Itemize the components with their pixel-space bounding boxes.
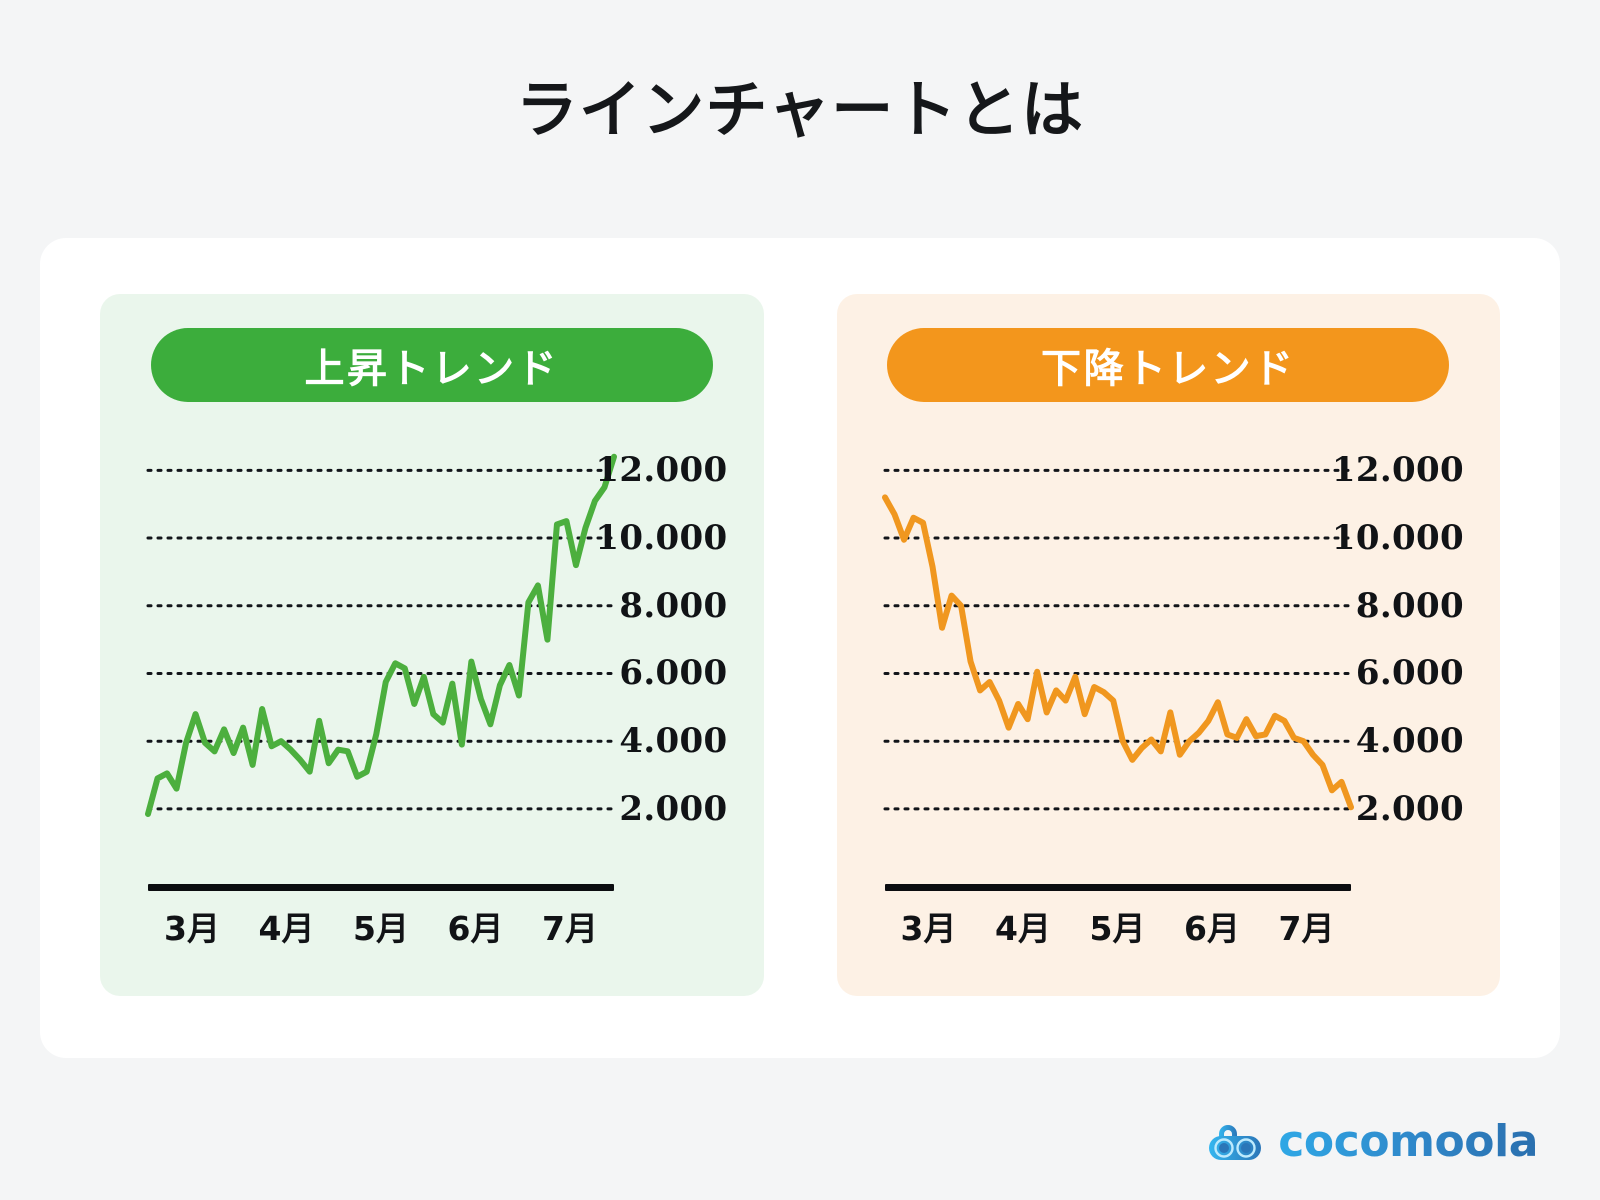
x-tick-label: 4月 xyxy=(995,902,1051,950)
x-tick-label: 3月 xyxy=(164,902,220,950)
y-tick-label: 2.000 xyxy=(619,789,727,829)
y-tick-label: 8.000 xyxy=(1356,586,1464,626)
logo-wordmark: cocomoola xyxy=(1278,1120,1538,1164)
uptrend-badge: 上昇トレンド xyxy=(151,328,713,402)
uptrend-plot xyxy=(148,450,614,836)
charts-row: 上昇トレンド 2.0004.0006.0008.00010.00012.000 … xyxy=(100,294,1500,996)
y-tick-label: 6.000 xyxy=(619,653,727,693)
slide-root: ラインチャートとは 上昇トレンド 2.0004.0006.0008.00010.… xyxy=(0,0,1600,1200)
x-tick-label: 5月 xyxy=(1090,902,1146,950)
y-tick-label: 6.000 xyxy=(1356,653,1464,693)
downtrend-y-axis-labels: 2.0004.0006.0008.00010.00012.000 xyxy=(1326,450,1466,836)
downtrend-badge: 下降トレンド xyxy=(887,328,1449,402)
uptrend-svg xyxy=(148,450,614,836)
x-tick-label: 3月 xyxy=(901,902,957,950)
cocomoola-logo: cocomoola xyxy=(1208,1120,1538,1164)
downtrend-plot xyxy=(885,450,1351,836)
downtrend-svg xyxy=(885,450,1351,836)
content-panel: 上昇トレンド 2.0004.0006.0008.00010.00012.000 … xyxy=(40,238,1560,1058)
x-tick-label: 5月 xyxy=(353,902,409,950)
uptrend-line xyxy=(148,457,614,814)
downtrend-chart-area: 2.0004.0006.0008.00010.00012.000 3月4月5月6… xyxy=(871,450,1467,920)
uptrend-card: 上昇トレンド 2.0004.0006.0008.00010.00012.000 … xyxy=(100,294,764,996)
y-tick-label: 10.000 xyxy=(595,518,727,558)
x-tick-label: 6月 xyxy=(1184,902,1240,950)
y-tick-label: 4.000 xyxy=(1356,721,1464,761)
downtrend-x-axis-line xyxy=(885,884,1351,891)
y-tick-label: 2.000 xyxy=(1356,789,1464,829)
x-tick-label: 6月 xyxy=(448,902,504,950)
x-tick-label: 7月 xyxy=(542,902,598,950)
y-tick-label: 12.000 xyxy=(1332,450,1464,490)
x-tick-label: 4月 xyxy=(259,902,315,950)
page-title: ラインチャートとは xyxy=(516,76,1085,144)
y-tick-label: 10.000 xyxy=(1332,518,1464,558)
downtrend-line xyxy=(885,497,1351,807)
downtrend-card: 下降トレンド 2.0004.0006.0008.00010.00012.000 … xyxy=(837,294,1501,996)
y-tick-label: 12.000 xyxy=(595,450,727,490)
uptrend-y-axis-labels: 2.0004.0006.0008.00010.00012.000 xyxy=(590,450,730,836)
uptrend-gridlines xyxy=(148,470,614,809)
downtrend-gridlines xyxy=(885,470,1351,809)
y-tick-label: 4.000 xyxy=(619,721,727,761)
uptrend-x-axis-labels: 3月4月5月6月7月 xyxy=(148,902,614,950)
downtrend-x-axis-labels: 3月4月5月6月7月 xyxy=(885,902,1351,950)
cocomoola-robot-icon xyxy=(1208,1122,1262,1162)
x-tick-label: 7月 xyxy=(1279,902,1335,950)
uptrend-chart-area: 2.0004.0006.0008.00010.00012.000 3月4月5月6… xyxy=(134,450,730,920)
y-tick-label: 8.000 xyxy=(619,586,727,626)
uptrend-x-axis-line xyxy=(148,884,614,891)
